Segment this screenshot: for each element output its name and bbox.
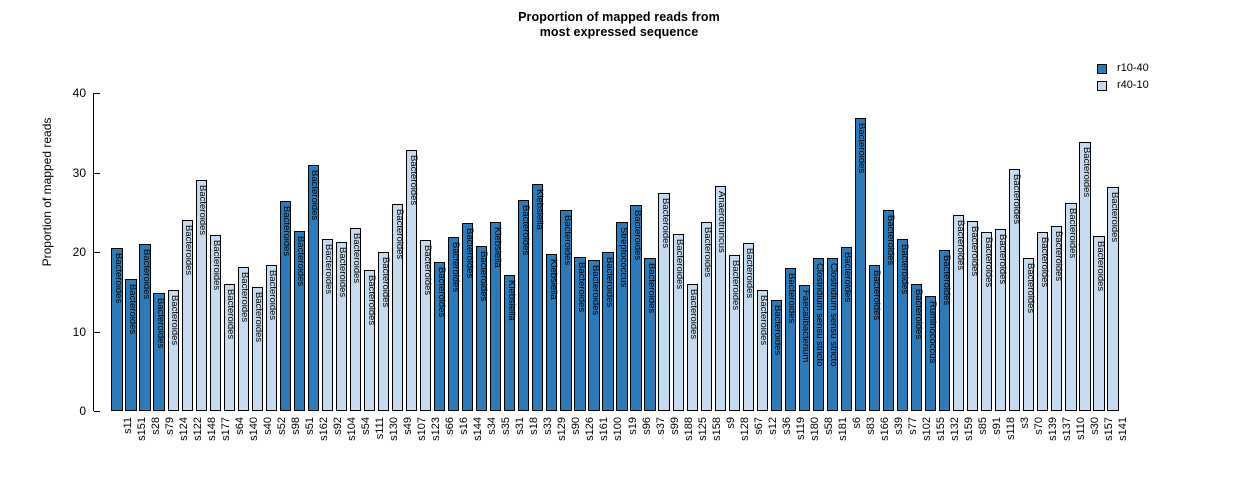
y-axis-tick-label: 10 [73,325,86,339]
bar[interactable]: Bacteroides [1051,226,1062,411]
bar[interactable]: Bacteroides [757,290,768,411]
bar[interactable]: Bacteroides [897,239,908,411]
bar-genus-label: Bacteroides [409,155,418,205]
bar[interactable]: Bacteroides [953,215,964,411]
bar[interactable]: Bacteroides [238,267,249,411]
bar[interactable]: Bacteroides [1107,187,1118,411]
legend-label: r10-40 [1117,62,1149,74]
bar-genus-label: Bacteroides [395,209,404,259]
x-axis-tick-label: s92 [332,417,344,435]
x-axis-tick-label: s3 [1019,417,1031,429]
bar-genus-label: Bacteroides [1068,208,1077,258]
x-axis-tick-label: s144 [472,417,484,441]
x-axis-tick-label: s85 [977,417,989,435]
bar-genus-label: Bacteroides [647,263,656,313]
bar[interactable]: Clostridium sensu stricto [813,258,824,411]
x-axis-tick-label: s132 [949,417,961,441]
bar-genus-label: Bacteroides [296,236,305,286]
bar[interactable]: Bacteroides [364,270,375,412]
bar-genus-label: Bacteroides [1026,263,1035,313]
bar[interactable]: Bacteroides [322,239,333,411]
bar-genus-label: Bacteroides [1096,241,1105,291]
bar-genus-label: Bacteroides [521,205,530,255]
bar[interactable]: Bacteroides [406,150,417,411]
bar[interactable]: Bacteroides [280,201,291,411]
bar-genus-label: Klebsiella [535,189,544,230]
bar-genus-label: Bacteroides [773,305,782,355]
bar[interactable]: Bacteroides [687,284,698,411]
x-axis-tick-label: s141 [1117,417,1129,441]
bar-genus-label: Streptococcus [619,227,628,287]
x-axis-tick-label: s64 [234,417,246,435]
bar[interactable]: Bacteroides [743,243,754,411]
bar[interactable]: Bacteroides [883,210,894,411]
bar-genus-label: Bacteroides [984,237,993,287]
bar-genus-label: Bacteroides [184,225,193,275]
bar-genus-label: Bacteroides [731,260,740,310]
x-axis-tick-label: s161 [598,417,610,441]
bar-genus-label: Bacteroides [310,170,319,220]
bar[interactable]: Bacteroides [350,228,361,411]
bar-genus-label: Bacteroides [689,289,698,339]
bar[interactable]: Bacteroides [182,220,193,411]
bar-genus-label: Bacteroides [1040,237,1049,287]
x-axis-tick-label: s52 [276,417,288,435]
bar-genus-label: Bacteroides [170,295,179,345]
x-axis-tick-label: s98 [290,417,302,435]
bar[interactable]: Bacteroides [518,200,529,411]
bar[interactable]: Bacteroides [125,279,136,411]
x-axis-tick-label: s180 [809,417,821,441]
plot-area: BacteroidesBacteroidesBacteroidesBactero… [110,93,1120,411]
bar[interactable]: Bacteroides [1079,142,1090,412]
x-axis-tick-label: s91 [991,417,1003,435]
bar-genus-label: Bacteroides [703,227,712,277]
x-axis-tick-label: s137 [1061,417,1073,441]
bar-genus-label: Clostridium sensu stricto [815,263,824,366]
bar-genus-label: Bacteroides [465,228,474,278]
bar-genus-label: Bacteroides [198,185,207,235]
x-axis-tick-label: s126 [584,417,596,441]
bar[interactable]: Bacteroides [995,229,1006,411]
legend-label: r40-10 [1117,79,1149,91]
bar[interactable]: Klebsiella [546,254,557,411]
bar[interactable]: Bacteroides [967,221,978,411]
y-axis-tick [94,252,100,253]
x-axis-tick-label: s31 [514,417,526,435]
x-axis-tick-label: s37 [655,417,667,435]
legend-swatch-icon [1097,81,1107,91]
y-axis-tick-label: 30 [73,166,86,180]
x-axis-tick-label: s125 [697,417,709,441]
x-axis-tick-label: s49 [402,417,414,435]
x-axis-tick-label: s90 [570,417,582,435]
bar[interactable]: Bacteroides [1037,232,1048,411]
bar[interactable]: Bacteroides [308,165,319,411]
bar[interactable]: Bacteroides [224,284,235,411]
bar-genus-label: Bacteroides [914,289,923,339]
bar[interactable]: Bacteroides [574,257,585,411]
y-axis-tick-label: 20 [73,245,86,259]
x-axis-tick-label: s99 [669,417,681,435]
bar-genus-label: Bacteroides [661,198,670,248]
bar[interactable]: Bacteroides [434,262,445,411]
bar[interactable]: Klebsiella [490,222,501,411]
x-axis-tick-label: s151 [136,417,148,441]
x-axis-tick-label: s19 [627,417,639,435]
bar[interactable]: Bacteroides [855,118,866,411]
bar[interactable]: Bacteroides [1023,258,1034,411]
x-axis-tick-label: s9 [725,417,737,429]
bar[interactable]: Bacteroides [1009,169,1020,411]
x-axis-tick-label: s166 [879,417,891,441]
bar-genus-label: Bacteroides [633,210,642,260]
bar[interactable]: Clostridium sensu stricto [827,258,838,411]
x-axis-tick-label: s128 [739,417,751,441]
x-axis-tick-label: s188 [683,417,695,441]
bar-genus-label: Bacteroides [381,257,390,307]
bar[interactable]: Bacteroides [630,205,641,411]
bar[interactable]: Bacteroides [658,193,669,411]
x-axis-tick-label: s159 [963,417,975,441]
bar[interactable]: Faecalibacterium [799,285,810,411]
bar[interactable]: Bacteroides [196,180,207,411]
x-axis-tick-label: s79 [164,417,176,435]
x-axis-tick-label: s102 [921,417,933,441]
bar-genus-label: Bacteroides [843,252,852,302]
bar[interactable]: Anaerotruncus [715,186,726,411]
x-axis-tick-label: s40 [262,417,274,435]
bar-genus-label: Bacteroides [254,292,263,342]
x-axis-tick-label: s100 [612,417,624,441]
bar-genus-label: Bacteroides [900,244,909,294]
x-axis-tick-label: s28 [150,417,162,435]
x-axis-tick-label: s35 [500,417,512,435]
bar-genus-label: Bacteroides [942,255,951,305]
bar-genus-label: Bacteroides [437,267,446,317]
bar-genus-label: Bacteroides [605,257,614,307]
x-axis-tick-label: s34 [486,417,498,435]
bar[interactable]: Bacteroides [911,284,922,411]
bar[interactable]: Bacteroides [448,237,459,411]
bar[interactable]: Bacteroides [644,258,655,411]
bar-genus-label: Bacteroides [857,123,866,173]
x-axis-tick-label: s96 [641,417,653,435]
x-axis-tick-label: s77 [907,417,919,435]
x-axis-tick-label: s36 [781,417,793,435]
bar[interactable]: Bacteroides [168,290,179,411]
bar[interactable]: Ruminococcus [925,296,936,411]
y-axis-tick [94,93,100,94]
x-axis-tick-label: s67 [753,417,765,435]
bar-genus-label: Klebsiella [493,227,502,268]
bar[interactable]: Bacteroides [785,268,796,411]
x-axis-tick-label: s30 [1089,417,1101,435]
bar[interactable]: Bacteroides [560,210,571,411]
bar[interactable]: Bacteroides [252,287,263,411]
bar-genus-label: Bacteroides [226,289,235,339]
bar[interactable]: Bacteroides [139,244,150,411]
bar-genus-label: Ruminococcus [928,301,937,363]
x-axis-tick-label: s158 [711,417,723,441]
bar-genus-label: Bacteroides [423,245,432,295]
bar-genus-label: Klebsiella [549,259,558,300]
bar[interactable]: Klebsiella [532,184,543,411]
bar-genus-label: Bacteroides [128,284,137,334]
bar[interactable]: Bacteroides [602,252,613,411]
x-axis-tick-label: s70 [1033,417,1045,435]
bar-genus-label: Bacteroides [240,272,249,322]
x-axis-tick-label: s12 [767,417,779,435]
x-axis-tick-label: s124 [178,417,190,441]
bar[interactable]: Streptococcus [616,222,627,411]
bar-genus-label: Klebsiella [507,280,516,321]
x-axis-tick-label: s16 [458,417,470,435]
bar-genus-label: Bacteroides [338,247,347,297]
bar-genus-label: Bacteroides [563,215,572,265]
x-axis-tick-label: s122 [192,417,204,441]
x-axis-tick-label: s110 [1075,417,1087,440]
x-axis-tick-label: s119 [795,417,807,440]
x-axis-tick-label: s157 [1103,417,1115,441]
bar-genus-label: Bacteroides [998,234,1007,284]
bar[interactable]: Bacteroides [869,265,880,411]
bar[interactable]: Bacteroides [673,234,684,411]
chart-title-line-1: Proportion of mapped reads from [0,10,1238,25]
bar-genus-label: Bacteroides [1110,192,1119,242]
x-axis-tick-label: s177 [220,417,232,441]
x-axis-tick-label: s123 [430,417,442,441]
bar-genus-label: Anaerotruncus [717,191,726,253]
x-axis-tick-label: s162 [318,417,330,441]
bar-genus-label: Bacteroides [282,206,291,256]
y-axis-tick [94,411,100,412]
chart-container: Proportion of mapped reads from most exp… [0,0,1238,500]
bar[interactable]: Bacteroides [771,300,782,411]
x-axis-tick-label: s66 [444,417,456,435]
bar[interactable]: Bacteroides [420,240,431,411]
bar[interactable]: Bacteroides [1065,203,1076,411]
x-axis-tick-label: s139 [1047,417,1059,441]
x-axis-tick-label: s130 [388,417,400,441]
bar-genus-label: Bacteroides [956,220,965,270]
y-axis-tick [94,173,100,174]
bar[interactable]: Bacteroides [701,222,712,411]
bar-genus-label: Bacteroides [156,298,165,348]
bar-genus-label: Bacteroides [577,262,586,312]
x-axis-tick-label: s148 [206,417,218,441]
bar-genus-label: Clostridium sensu stricto [829,263,838,366]
bar[interactable]: Bacteroides [153,293,164,411]
x-axis-tick-label: s118 [1005,417,1017,440]
y-axis-tick-label: 40 [73,86,86,100]
bar-genus-label: Bacteroides [324,244,333,294]
x-axis-tick-label: s39 [893,417,905,435]
x-axis-tick-label: s51 [304,417,316,435]
x-axis-tick-label: s181 [837,417,849,441]
bar[interactable]: Bacteroides [981,232,992,411]
bar-genus-label: Bacteroides [591,265,600,315]
legend-swatch-icon [1097,64,1107,74]
bar-genus-label: Bacteroides [759,295,768,345]
bar-genus-label: Bacteroides [970,226,979,276]
x-axis-tick-label: s11 [122,417,134,434]
bar-genus-label: Faecalibacterium [801,290,810,362]
x-axis-tick-label: s54 [360,417,372,435]
bar[interactable]: Bacteroides [729,255,740,411]
bar-genus-label: Bacteroides [1054,231,1063,281]
bar[interactable]: Bacteroides [841,247,852,411]
y-axis-tick-label: 0 [79,404,86,418]
x-axis-tick-label: s111 [374,417,386,439]
bar[interactable]: Bacteroides [588,260,599,411]
bar[interactable]: Bacteroides [210,235,221,411]
bar-genus-label: Bacteroides [142,249,151,299]
bar-genus-label: Bacteroides [1012,174,1021,224]
bar[interactable]: Bacteroides [111,248,122,411]
bar-genus-label: Bacteroides [268,270,277,320]
bar-genus-label: Bacteroides [114,253,123,303]
x-axis-tick-label: s140 [248,417,260,441]
x-axis-tick-label: s104 [346,417,358,441]
y-axis-tick [94,332,100,333]
bar-genus-label: Bacteroides [352,233,361,283]
bar[interactable]: Bacteroides [378,252,389,411]
bar[interactable]: Bacteroides [476,246,487,411]
bar-genus-label: Bacteroides [787,273,796,323]
bar[interactable]: Bacteroides [939,250,950,411]
bar[interactable]: Bacteroides [294,231,305,411]
y-axis-title: Proportion of mapped reads [40,42,54,342]
x-axis-tick-label: s18 [528,417,540,435]
bar[interactable]: Bacteroides [336,242,347,411]
bar[interactable]: Bacteroides [1093,236,1104,411]
bar[interactable]: Bacteroides [266,265,277,411]
x-axis-tick-label: s6 [851,417,863,429]
bar-genus-label: Bacteroides [1082,147,1091,197]
bar[interactable]: Bacteroides [392,204,403,412]
bar-genus-label: Bacteroides [451,242,460,292]
bar-genus-label: Bacteroides [675,239,684,289]
bar-genus-label: Bacteroides [886,215,895,265]
bar-genus-label: Bacteroides [479,251,488,301]
bar-genus-label: Bacteroides [872,270,881,320]
bar-genus-label: Bacteroides [212,240,221,290]
x-axis-tick-label: s107 [416,417,428,441]
chart-title: Proportion of mapped reads from most exp… [0,10,1238,40]
bar[interactable]: Bacteroides [462,223,473,411]
x-axis-tick-label: s33 [542,417,554,435]
bar-genus-label: Bacteroides [745,248,754,298]
x-axis-tick-label: s58 [823,417,835,435]
x-axis-tick-label: s155 [935,417,947,441]
bar-genus-label: Bacteroides [367,275,376,325]
bar[interactable]: Klebsiella [504,275,515,411]
x-axis-tick-label: s83 [865,417,877,435]
x-axis-tick-label: s129 [556,417,568,441]
chart-title-line-2: most expressed sequence [0,25,1238,40]
